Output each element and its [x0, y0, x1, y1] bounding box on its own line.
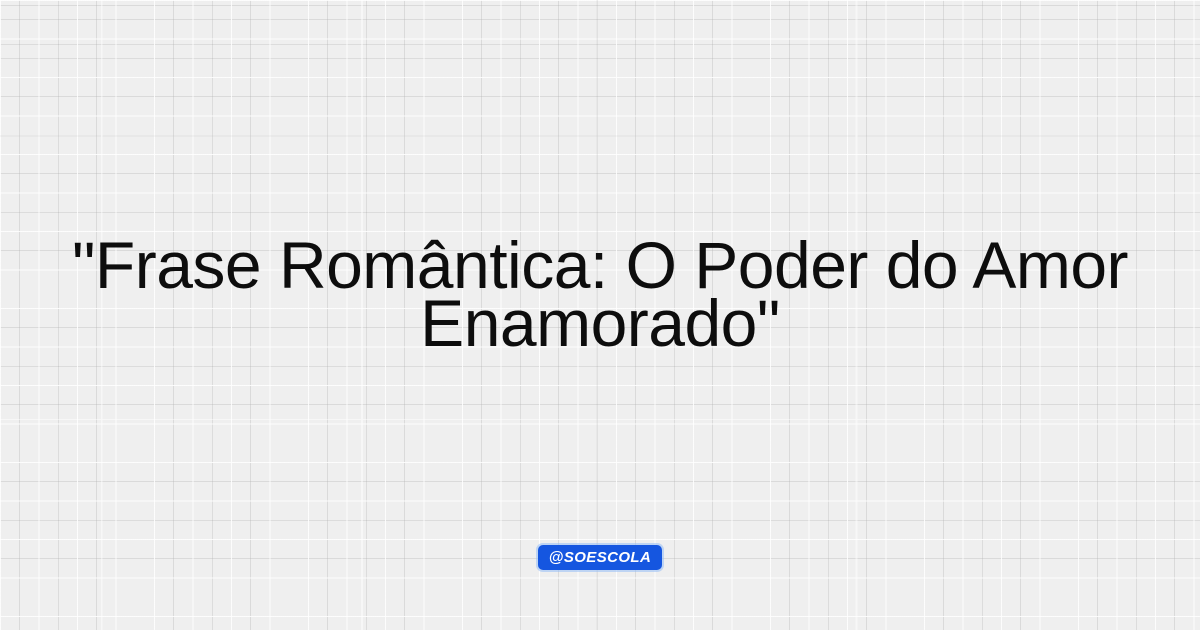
headline-container: "Frase Romântica: O Poder do Amor Enamor… — [0, 236, 1200, 352]
watermark-container: @SOESCOLA — [0, 545, 1200, 570]
watermark-badge: @SOESCOLA — [538, 545, 662, 570]
page-title: "Frase Romântica: O Poder do Amor Enamor… — [46, 236, 1154, 352]
quote-card: "Frase Romântica: O Poder do Amor Enamor… — [0, 0, 1200, 630]
